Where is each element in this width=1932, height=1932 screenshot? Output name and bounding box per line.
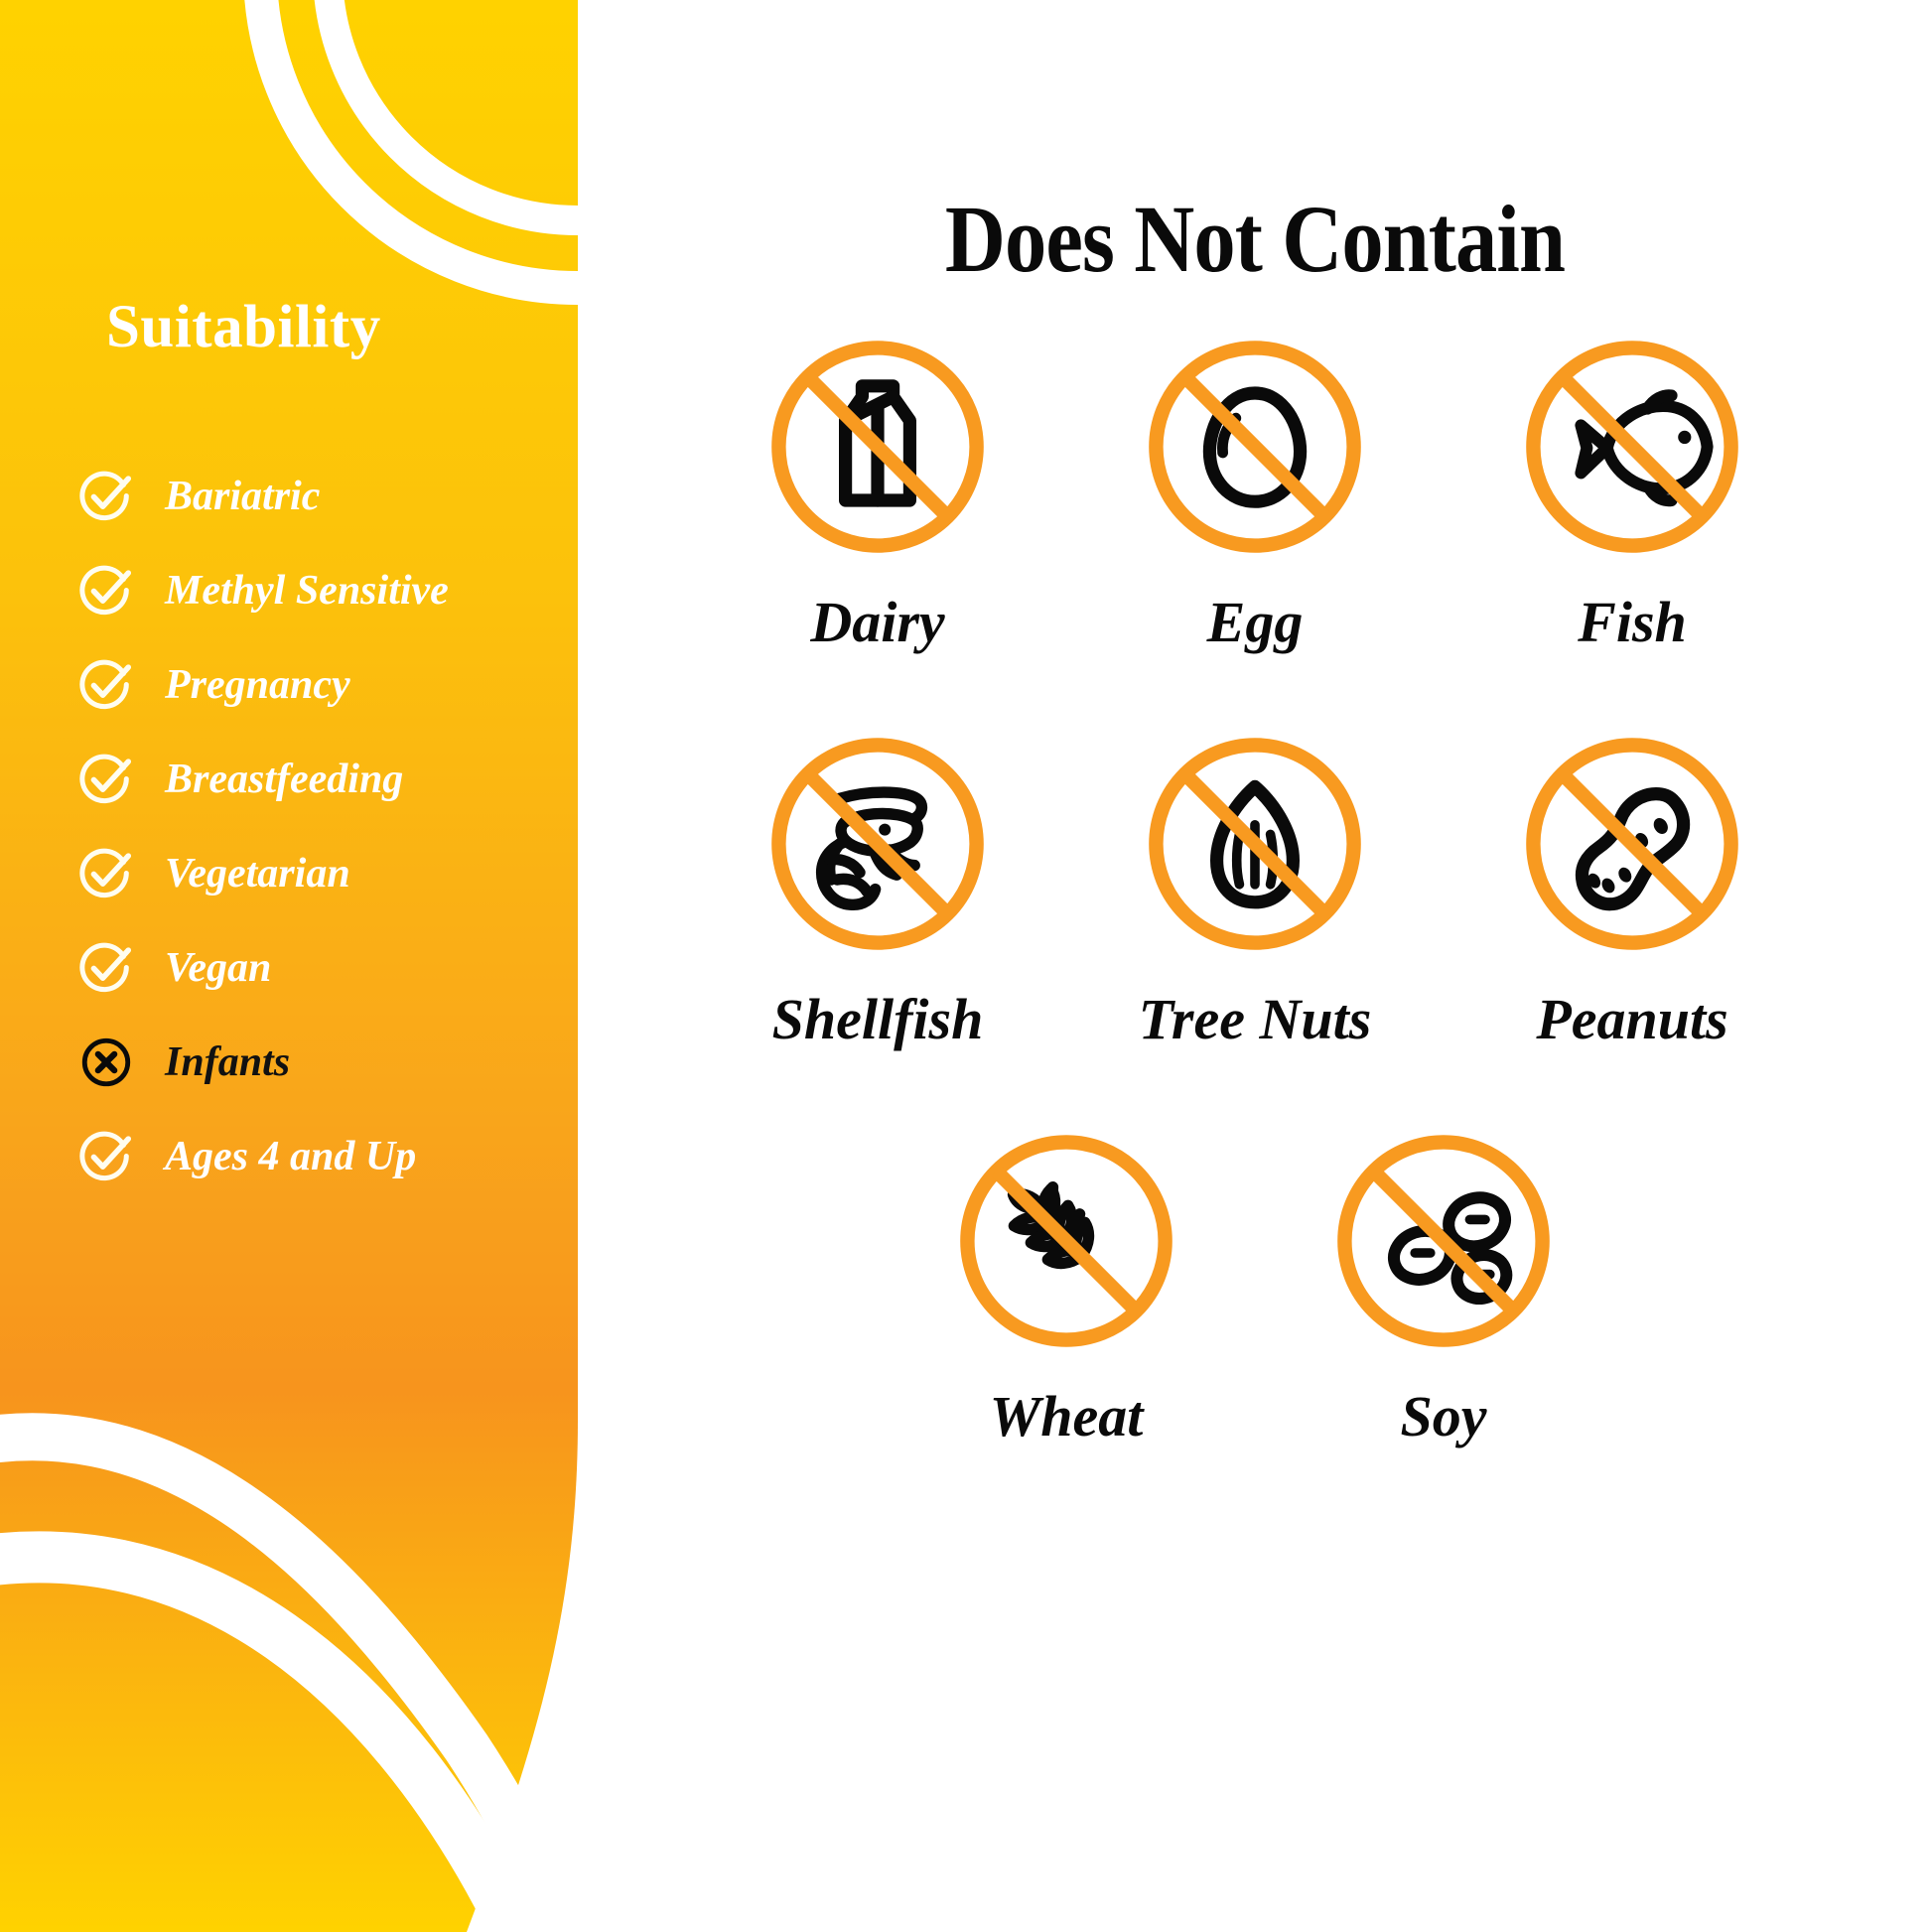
suitability-item-infants: Infants (77, 1015, 574, 1109)
allergen-label: Tree Nuts (1139, 991, 1372, 1048)
allergen-cell-peanuts: Peanuts (1444, 725, 1821, 1048)
suitability-item-label: Vegetarian (165, 853, 350, 895)
suitability-item-pregnancy: Pregnancy (77, 637, 574, 732)
infographic-root: Suitability Bariatric (0, 0, 1932, 1932)
allergen-cell-shellfish: Shellfish (689, 725, 1066, 1048)
no-tree-nuts-icon (1136, 725, 1374, 963)
suitability-item-label: Pregnancy (165, 664, 350, 706)
allergen-row: Shellfish (578, 725, 1932, 1048)
suitability-list: Bariatric Methyl Sensitive (77, 449, 574, 1203)
suitability-item-vegan: Vegan (77, 920, 574, 1015)
suitability-item-methyl-sensitive: Methyl Sensitive (77, 543, 574, 637)
allergen-label: Dairy (810, 594, 944, 651)
no-shellfish-icon (759, 725, 997, 963)
no-soy-icon (1324, 1122, 1563, 1360)
check-circle-icon (77, 751, 135, 808)
check-circle-icon (77, 845, 135, 902)
suitability-item-label: Infants (165, 1041, 290, 1083)
x-circle-icon (77, 1034, 135, 1091)
allergen-row: Wheat (578, 1122, 1932, 1446)
suitability-item-label: Bariatric (165, 476, 320, 517)
no-dairy-icon (759, 328, 997, 566)
allergen-cell-dairy: Dairy (689, 328, 1066, 651)
no-peanuts-icon (1513, 725, 1751, 963)
suitability-item-label: Ages 4 and Up (165, 1136, 416, 1177)
allergen-label: Soy (1401, 1388, 1487, 1446)
suitability-sidebar: Suitability Bariatric (0, 0, 578, 1932)
does-not-contain-panel: Does Not Contain (578, 0, 1932, 1932)
suitability-item-label: Methyl Sensitive (165, 570, 449, 612)
allergen-label: Wheat (990, 1388, 1144, 1446)
allergen-label: Shellfish (772, 991, 984, 1048)
check-circle-icon (77, 656, 135, 714)
suitability-item-label: Vegan (165, 947, 271, 989)
suitability-item-vegetarian: Vegetarian (77, 826, 574, 920)
suitability-item-breastfeeding: Breastfeeding (77, 732, 574, 826)
check-circle-icon (77, 939, 135, 997)
no-wheat-icon (947, 1122, 1185, 1360)
allergen-cell-fish: Fish (1444, 328, 1821, 651)
sidebar-title: Suitability (106, 293, 381, 362)
page-title: Does Not Contain (659, 184, 1851, 294)
check-circle-icon (77, 1128, 135, 1185)
suitability-item-ages-4-and-up: Ages 4 and Up (77, 1109, 574, 1203)
suitability-item-label: Breastfeeding (165, 759, 403, 800)
allergen-label: Egg (1207, 594, 1304, 651)
allergen-row: Dairy Egg (578, 328, 1932, 651)
allergen-cell-soy: Soy (1255, 1122, 1632, 1446)
allergen-grid: Dairy Egg (578, 328, 1932, 1451)
no-fish-icon (1513, 328, 1751, 566)
allergen-label: Fish (1578, 594, 1687, 651)
suitability-item-bariatric: Bariatric (77, 449, 574, 543)
check-circle-icon (77, 562, 135, 620)
allergen-cell-wheat: Wheat (878, 1122, 1255, 1446)
no-egg-icon (1136, 328, 1374, 566)
allergen-label: Peanuts (1536, 991, 1727, 1048)
check-circle-icon (77, 468, 135, 525)
allergen-cell-tree-nuts: Tree Nuts (1066, 725, 1444, 1048)
allergen-cell-egg: Egg (1066, 328, 1444, 651)
